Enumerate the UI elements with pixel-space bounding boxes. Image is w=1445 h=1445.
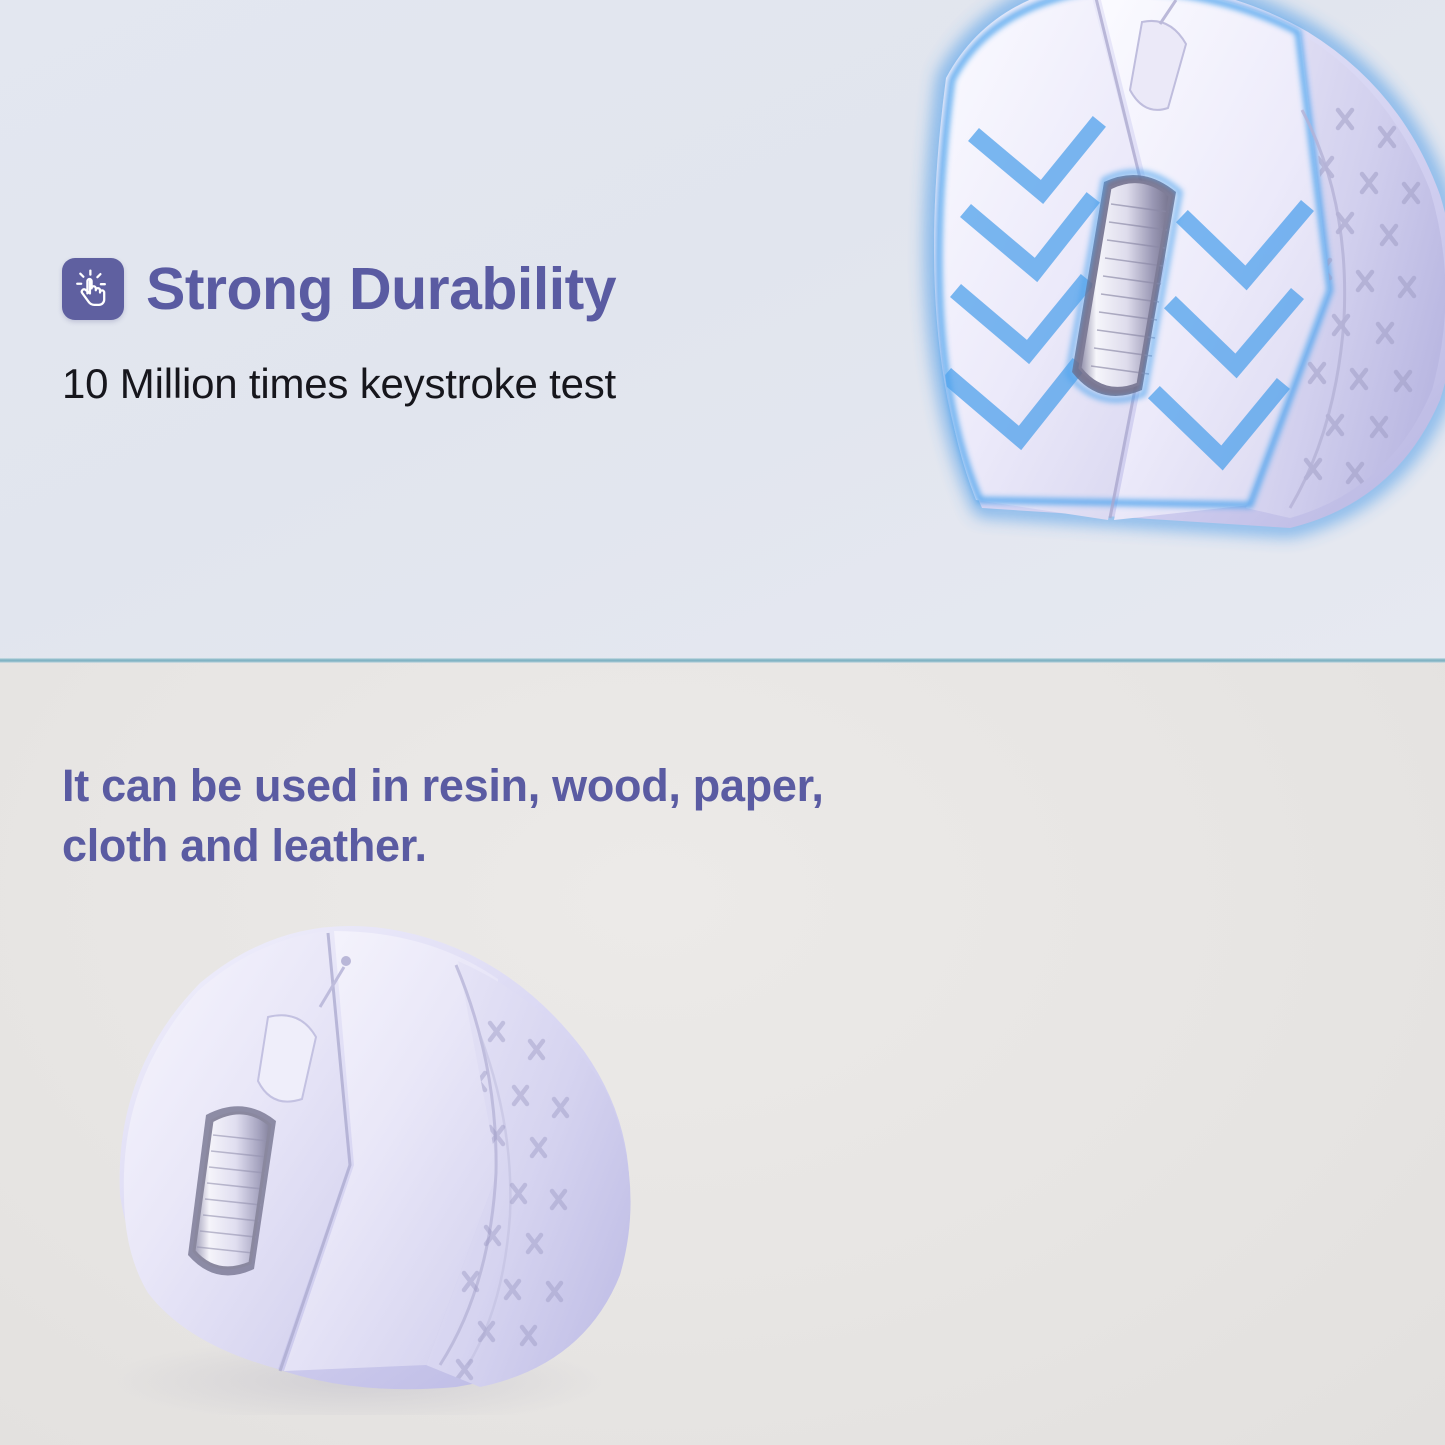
materials-headline-line1: It can be used in resin, wood, paper, bbox=[62, 756, 824, 816]
page-title: Strong Durability bbox=[146, 260, 616, 319]
mouse-glow-image bbox=[690, 0, 1445, 660]
materials-section: It can be used in resin, wood, paper, cl… bbox=[0, 663, 1445, 1445]
durability-subtitle: 10 Million times keystroke test bbox=[62, 360, 616, 408]
durability-headline-block: Strong Durability 10 Million times keyst… bbox=[62, 258, 616, 408]
mouse-product-image bbox=[28, 895, 688, 1415]
click-hand-icon bbox=[62, 258, 124, 320]
durability-section: Strong Durability 10 Million times keyst… bbox=[0, 0, 1445, 660]
materials-headline-line2: cloth and leather. bbox=[62, 816, 824, 876]
led-indicator bbox=[341, 956, 351, 966]
infographic-page: Strong Durability 10 Million times keyst… bbox=[0, 0, 1445, 1445]
materials-headline: It can be used in resin, wood, paper, cl… bbox=[62, 756, 824, 876]
